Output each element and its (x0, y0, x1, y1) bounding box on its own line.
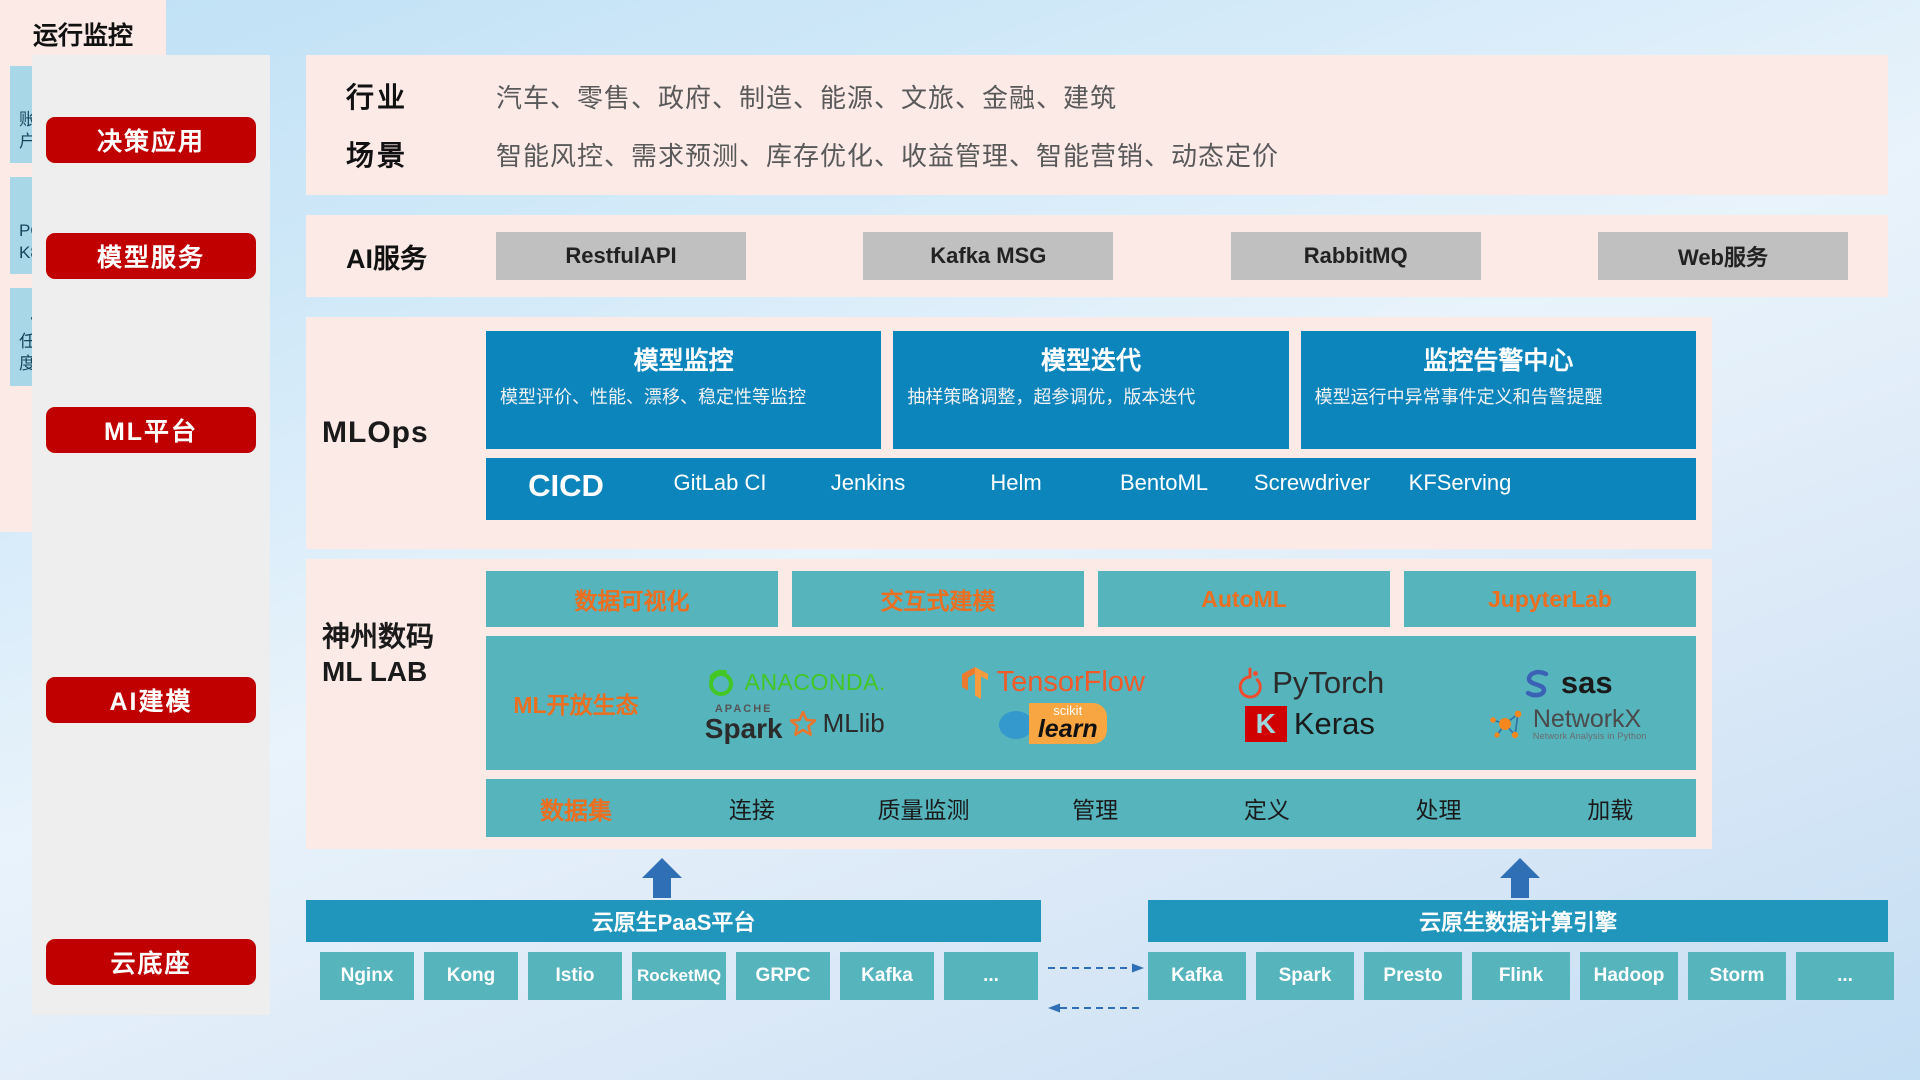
mllib-wordmark: MLlib (823, 708, 885, 739)
cicd-bar: CICD GitLab CI Jenkins Helm BentoML Scre… (486, 458, 1696, 520)
scenario-value: 智能风控、需求预测、库存优化、收益管理、智能营销、动态定价 (496, 136, 1279, 173)
engine-tag-more[interactable]: ... (1796, 952, 1894, 1000)
rail-label: 决策应用 (97, 122, 205, 158)
ai-tool-data-visualization[interactable]: 数据可视化 (486, 571, 778, 627)
ml-lab-label: 神州数码 ML LAB (322, 619, 482, 689)
rail-item-cloud-base[interactable]: 云底座 (46, 939, 256, 985)
cicd-title: CICD (486, 468, 646, 504)
cicd-item-gitlab-ci[interactable]: GitLab CI (646, 468, 794, 498)
ai-tool-group: 数据可视化 交互式建模 AutoML JupyterLab (486, 571, 1696, 627)
ai-tool-interactive-modeling[interactable]: 交互式建模 (792, 571, 1084, 627)
ai-service-label: AI服务 (346, 237, 496, 276)
anaconda-logo[interactable]: ANACONDA. (704, 666, 886, 700)
sas-logo[interactable]: sas (1522, 665, 1613, 701)
keras-wordmark: Keras (1294, 706, 1375, 742)
card-desc: 抽样策略调整，超参调优，版本迭代 (907, 385, 1274, 409)
dashed-arrow-right-icon (1048, 962, 1144, 974)
paas-tag-istio[interactable]: Istio (528, 952, 622, 1000)
service-chip-rabbitmq[interactable]: RabbitMQ (1231, 232, 1481, 280)
ml-lab-label-line2: ML LAB (322, 654, 482, 689)
spark-star-icon (790, 711, 816, 737)
cicd-item-kfserving[interactable]: KFServing (1386, 468, 1534, 498)
ecosystem-logo-grid: ANACONDA. TensorFlow (666, 662, 1696, 744)
industry-row: 行业 汽车、零售、政府、制造、能源、文旅、金融、建筑 (346, 76, 1848, 116)
rail-label: 模型服务 (97, 238, 205, 274)
learn-text: learn (1038, 717, 1098, 742)
ai-tool-jupyterlab[interactable]: JupyterLab (1404, 571, 1696, 627)
mlops-label: MLOps (322, 317, 472, 549)
layer-rail: 决策应用 模型服务 ML平台 AI建模 云底座 (32, 55, 270, 1015)
cloud-data-engine-bar[interactable]: 云原生数据计算引擎 (1148, 900, 1888, 942)
paas-tag-kong[interactable]: Kong (424, 952, 518, 1000)
paas-tag-kafka[interactable]: Kafka (840, 952, 934, 1000)
industry-key: 行业 (346, 76, 496, 116)
networkx-logo[interactable]: NetworkX Network Analysis in Python (1488, 707, 1647, 741)
engine-tag-flink[interactable]: Flink (1472, 952, 1570, 1000)
rail-label: 云底座 (110, 944, 191, 980)
ml-lab-label-line1: 神州数码 (322, 619, 482, 654)
anaconda-mark-icon (704, 666, 738, 700)
networkx-wordmark-block: NetworkX Network Analysis in Python (1533, 707, 1647, 741)
engine-tag-kafka[interactable]: Kafka (1148, 952, 1246, 1000)
monitoring-title: 运行监控 (0, 0, 166, 52)
paas-tag-nginx[interactable]: Nginx (320, 952, 414, 1000)
dataset-item-connect[interactable]: 连接 (666, 791, 838, 825)
pytorch-flame-icon (1235, 666, 1265, 700)
tensorflow-wordmark: TensorFlow (997, 666, 1145, 699)
industry-value: 汽车、零售、政府、制造、能源、文旅、金融、建筑 (496, 78, 1117, 115)
scikit-learn-logo[interactable]: scikit learn (998, 703, 1107, 744)
engine-tag-presto[interactable]: Presto (1364, 952, 1462, 1000)
service-chip-web[interactable]: Web服务 (1598, 232, 1848, 280)
rail-item-decision-apps[interactable]: 决策应用 (46, 117, 256, 163)
rail-item-ml-platform[interactable]: ML平台 (46, 407, 256, 453)
model-service-band: AI服务 RestfulAPI Kafka MSG RabbitMQ Web服务 (306, 215, 1888, 297)
scikit-learn-wordmark-block: scikit learn (1029, 703, 1107, 744)
dataset-item-processing[interactable]: 处理 (1353, 791, 1525, 825)
sas-mark-icon (1522, 667, 1554, 699)
spark-mllib-logo[interactable]: APACHE Spark MLlib (705, 704, 885, 743)
paas-tag-rocketmq[interactable]: RocketMQ (632, 952, 726, 1000)
cicd-item-helm[interactable]: Helm (942, 468, 1090, 498)
spark-wordmark-block: APACHE Spark (705, 704, 783, 743)
rail-label: ML平台 (104, 412, 198, 448)
engine-tag-spark[interactable]: Spark (1256, 952, 1354, 1000)
dataset-item-management[interactable]: 管理 (1009, 791, 1181, 825)
card-title: 模型监控 (500, 341, 867, 377)
architecture-diagram: 决策应用 模型服务 ML平台 AI建模 云底座 行业 汽车、零售、政府、制造、能… (0, 0, 1920, 1080)
paas-tag-grpc[interactable]: GRPC (736, 952, 830, 1000)
ai-tool-automl[interactable]: AutoML (1098, 571, 1390, 627)
scenario-key: 场景 (346, 134, 496, 174)
mlops-card-group: 模型监控 模型评价、性能、漂移、稳定性等监控 模型迭代 抽样策略调整，超参调优，… (486, 331, 1696, 449)
card-title: 模型迭代 (907, 341, 1274, 377)
networkx-wordmark: NetworkX (1533, 707, 1647, 732)
networkx-graph-icon (1488, 707, 1526, 741)
dataset-item-quality-monitoring[interactable]: 质量监测 (838, 791, 1010, 825)
cloud-paas-bar[interactable]: 云原生PaaS平台 (306, 900, 1041, 942)
card-desc: 模型运行中异常事件定义和告警提醒 (1315, 385, 1682, 409)
keras-logo[interactable]: K Keras (1245, 706, 1375, 742)
rail-item-ai-modeling[interactable]: AI建模 (46, 677, 256, 723)
mlops-card-alert-center[interactable]: 监控告警中心 模型运行中异常事件定义和告警提醒 (1301, 331, 1696, 449)
networkx-subtitle: Network Analysis in Python (1533, 732, 1647, 741)
service-chip-kafka-msg[interactable]: Kafka MSG (863, 232, 1113, 280)
cicd-item-jenkins[interactable]: Jenkins (794, 468, 942, 498)
engine-tag-storm[interactable]: Storm (1688, 952, 1786, 1000)
service-chip-group: RestfulAPI Kafka MSG RabbitMQ Web服务 (496, 232, 1848, 280)
rail-label: AI建模 (109, 682, 192, 718)
dashed-arrow-left-icon (1048, 1002, 1144, 1014)
tensorflow-logo[interactable]: TensorFlow (960, 665, 1145, 701)
sas-wordmark: sas (1561, 665, 1613, 701)
anaconda-wordmark: ANACONDA. (745, 669, 886, 696)
mlops-card-model-iteration[interactable]: 模型迭代 抽样策略调整，超参调优，版本迭代 (893, 331, 1288, 449)
engine-tag-hadoop[interactable]: Hadoop (1580, 952, 1678, 1000)
tensorflow-mark-icon (960, 665, 990, 701)
mlops-card-model-monitoring[interactable]: 模型监控 模型评价、性能、漂移、稳定性等监控 (486, 331, 881, 449)
up-arrow-paas-icon (640, 858, 684, 898)
data-engine-tag-group: Kafka Spark Presto Flink Hadoop Storm ..… (1148, 952, 1894, 1000)
paas-tag-group: Nginx Kong Istio RocketMQ GRPC Kafka ... (320, 952, 1038, 1000)
decision-applications-band: 行业 汽车、零售、政府、制造、能源、文旅、金融、建筑 场景 智能风控、需求预测、… (306, 55, 1888, 195)
up-arrow-data-engine-icon (1498, 858, 1542, 898)
keras-mark-icon: K (1245, 706, 1287, 742)
ml-open-ecosystem: ML开放生态 ANACONDA. (486, 636, 1696, 770)
pytorch-logo[interactable]: PyTorch (1235, 665, 1384, 701)
pytorch-wordmark: PyTorch (1272, 665, 1384, 701)
service-chip-restfulapi[interactable]: RestfulAPI (496, 232, 746, 280)
dataset-item-definition[interactable]: 定义 (1181, 791, 1353, 825)
dataset-item-loading[interactable]: 加载 (1524, 791, 1696, 825)
ecosystem-label: ML开放生态 (486, 686, 666, 720)
rail-item-model-service[interactable]: 模型服务 (46, 233, 256, 279)
scenario-row: 场景 智能风控、需求预测、库存优化、收益管理、智能营销、动态定价 (346, 134, 1848, 174)
card-title: 监控告警中心 (1315, 341, 1682, 377)
card-desc: 模型评价、性能、漂移、稳定性等监控 (500, 385, 867, 409)
ai-modeling-band: 神州数码 ML LAB 数据可视化 交互式建模 AutoML JupyterLa… (306, 559, 1712, 849)
ml-platform-band: MLOps 模型监控 模型评价、性能、漂移、稳定性等监控 模型迭代 抽样策略调整… (306, 317, 1712, 549)
dataset-row: 数据集 连接 质量监测 管理 定义 处理 加载 (486, 779, 1696, 837)
cicd-item-bentoml[interactable]: BentoML (1090, 468, 1238, 498)
dataset-label: 数据集 (486, 791, 666, 826)
paas-tag-more[interactable]: ... (944, 952, 1038, 1000)
cicd-item-screwdriver[interactable]: Screwdriver (1238, 468, 1386, 498)
spark-text: Spark (705, 715, 783, 743)
